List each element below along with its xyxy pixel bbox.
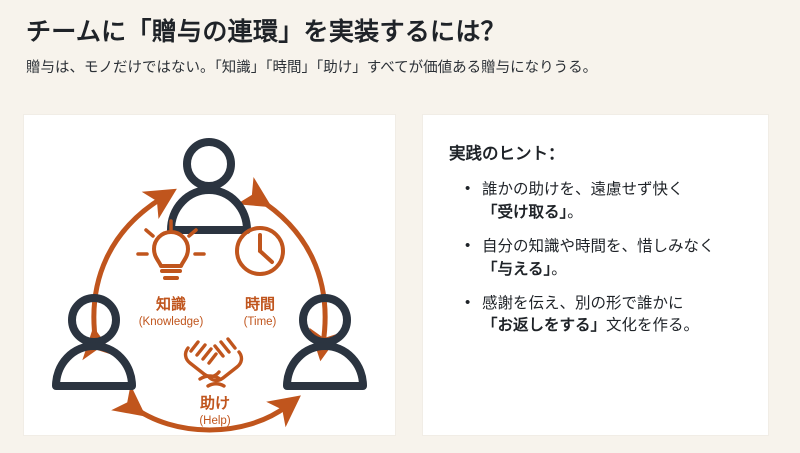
edge-label-help-ja: 助け [200,394,230,412]
content-area: 知識 (Knowledge) 時間 (Time) [0,115,800,435]
gift-cycle-diagram: 知識 (Knowledge) 時間 (Time) [24,115,395,435]
page-subtitle: 贈与は、モノだけではない。「知識」「時間」「助け」すべてが価値ある贈与になりうる… [26,59,774,77]
edge-label-time-ja: 時間 [245,295,275,313]
lightbulb-icon [138,221,204,278]
hint-emphasis: 「受け取る」 [482,204,567,221]
clock-icon [237,228,283,274]
hint-tail: 。 [551,261,567,278]
hint-item: 自分の知識や時間を、惜しみなく 「与える」。 [465,236,748,282]
hint-item: 誰かの助けを、遠慮せず快く 「受け取る」。 [465,179,748,225]
hint-line-1: 自分の知識や時間を、惜しみなく [482,236,748,259]
hint-emphasis: 「与える」 [482,261,551,278]
hint-item: 感謝を伝え、別の形で誰かに 「お返しをする」文化を作る。 [465,293,748,339]
hint-line-1: 誰かの助けを、遠慮せず快く [482,179,748,202]
hint-tail: 。 [567,204,583,221]
edge-label-knowledge-en: (Knowledge) [139,316,204,328]
practice-hints-card: 実践のヒント： 誰かの助けを、遠慮せず快く 「受け取る」。 自分の知識や時間を、… [423,115,768,435]
hint-line-1: 感謝を伝え、別の形で誰かに [482,293,748,316]
page-header: チームに「贈与の連環」を実装するには？ 贈与は、モノだけではない。「知識」「時間… [0,0,800,77]
edge-label-help-en: (Help) [199,415,230,427]
edge-label-knowledge-ja: 知識 [156,295,186,313]
person-icon-top [171,142,247,230]
gift-cycle-diagram-card: 知識 (Knowledge) 時間 (Time) [24,115,395,435]
page-title: チームに「贈与の連環」を実装するには？ [26,18,774,48]
hints-title: 実践のヒント： [449,145,748,165]
hint-line-2: 「受け取る」。 [482,202,748,225]
hint-line-2: 「お返しをする」文化を作る。 [482,315,748,338]
hints-list: 誰かの助けを、遠慮せず快く 「受け取る」。 自分の知識や時間を、惜しみなく 「与… [449,179,748,339]
hint-emphasis: 「お返しをする」 [482,317,606,334]
edge-label-time-en: (Time) [244,316,277,328]
handshake-icon [186,339,242,386]
hint-tail: 文化を作る。 [606,317,699,334]
hint-line-2: 「与える」。 [482,259,748,282]
